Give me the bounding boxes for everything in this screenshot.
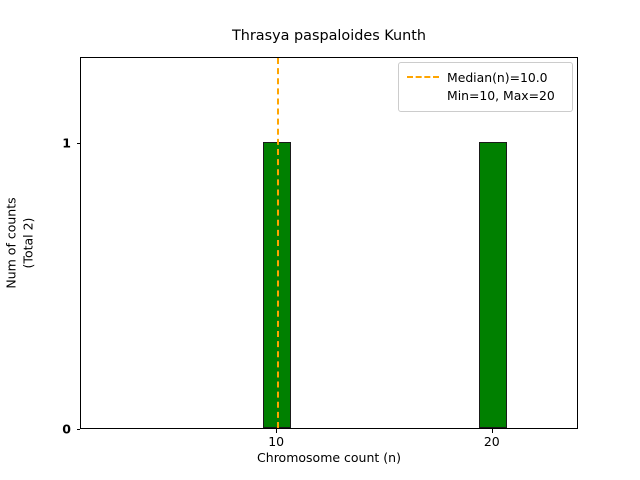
legend-box: Median(n)=10.0 Min=10, Max=20 [398,62,573,112]
legend-entry-label: Median(n)=10.0 Min=10, Max=20 [447,69,555,104]
legend-entry-median: Median(n)=10.0 Min=10, Max=20 [407,69,564,104]
y-tick-label: 0 [62,422,71,437]
chart-title: Thrasya paspaloides Kunth [80,28,578,44]
y-axis-label-line-2: (Total 2) [20,197,37,288]
x-tick-label: 10 [268,434,284,449]
x-tick-mark [276,429,277,433]
chart-figure: Thrasya paspaloides Kunth 102001 Chromos… [0,0,640,480]
x-tick-label: 20 [484,434,500,449]
y-axis-label: Num of counts (Total 2) [4,197,37,288]
x-axis-label: Chromosome count (n) [80,450,578,465]
y-tick-mark [77,429,81,430]
dashed-line-icon [407,69,439,85]
median-line [277,58,279,428]
y-tick-mark [77,143,81,144]
y-axis-label-container: Num of counts (Total 2) [0,57,40,429]
plot-area [80,57,578,429]
legend-median-text: Median(n)=10.0 [447,69,555,87]
bar [479,142,507,428]
legend-minmax-text: Min=10, Max=20 [447,87,555,105]
y-tick-label: 1 [62,135,71,150]
y-axis-label-line-1: Num of counts [4,197,21,288]
x-tick-mark [492,429,493,433]
